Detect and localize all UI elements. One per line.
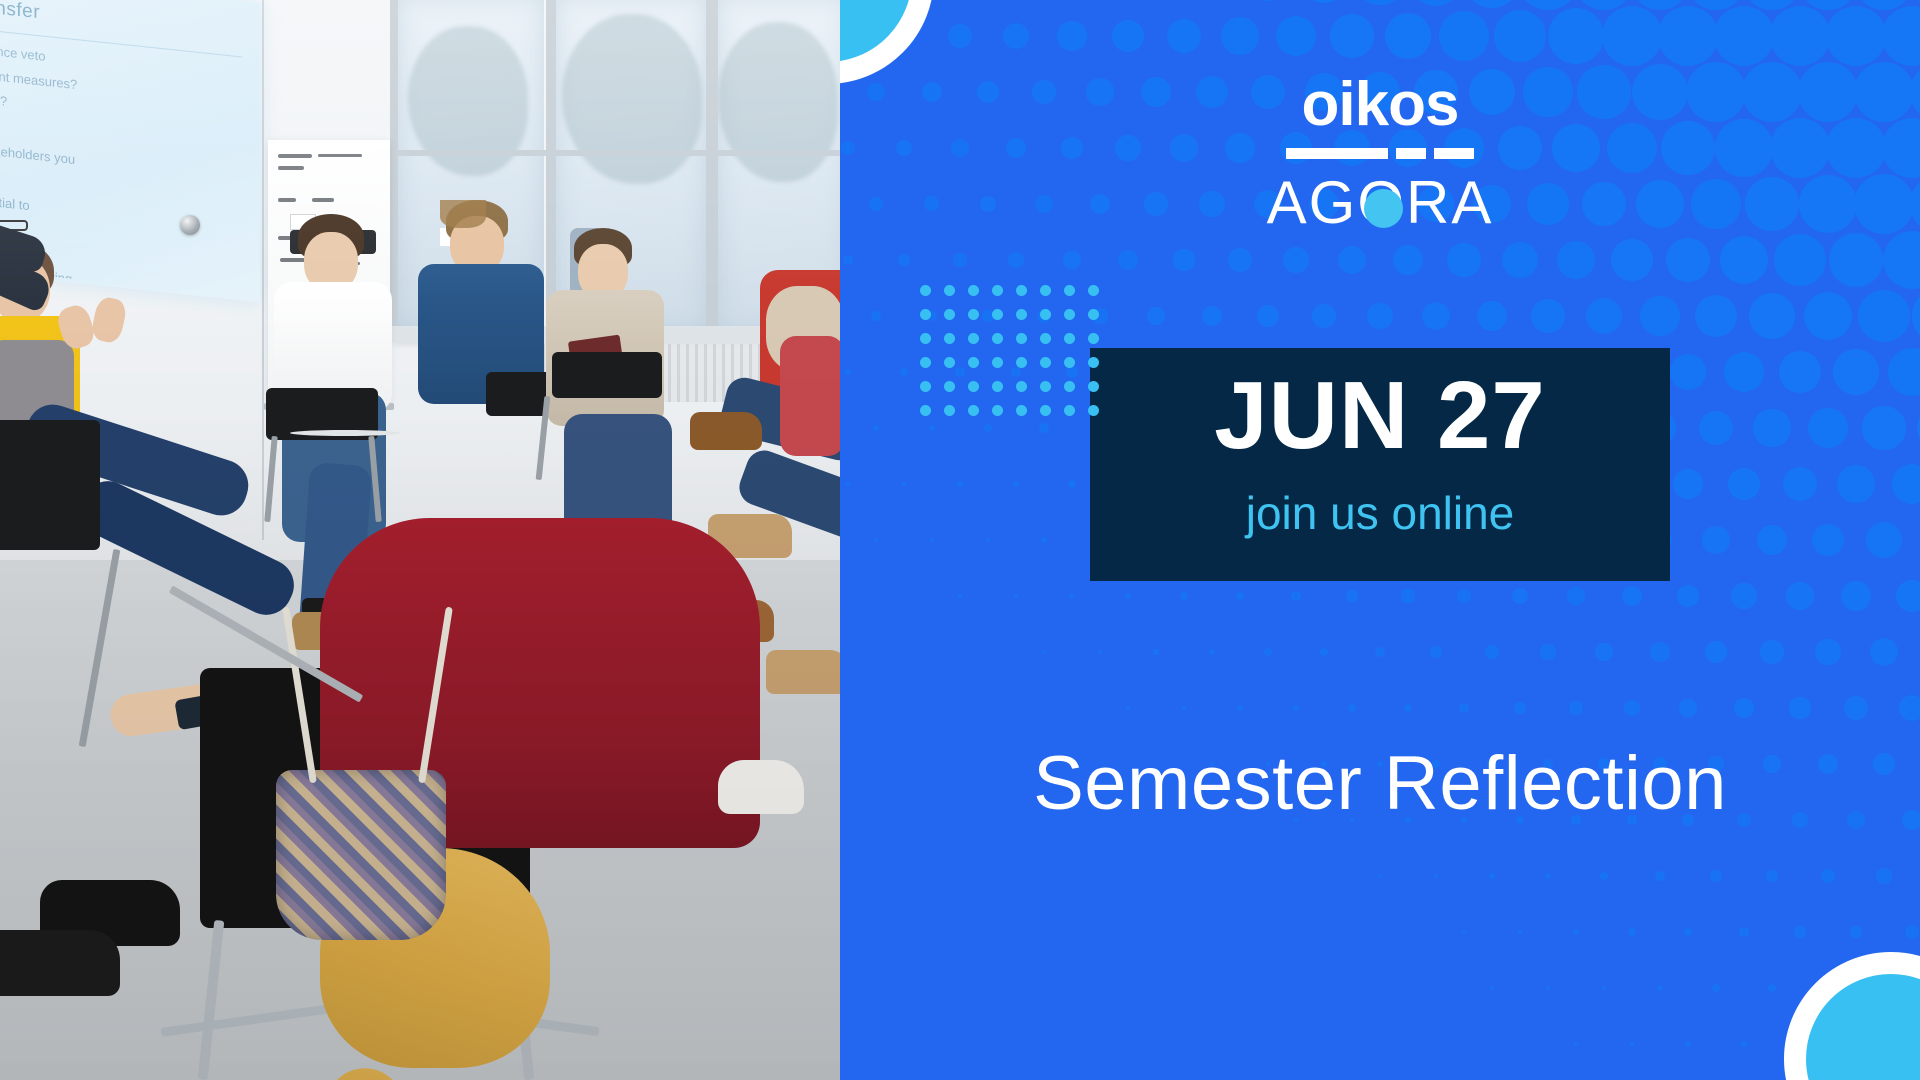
grid-dot	[920, 405, 931, 416]
halftone-dot	[1291, 591, 1301, 601]
halftone-dot	[1404, 704, 1413, 713]
halftone-dot	[898, 254, 910, 266]
grid-dot	[920, 285, 931, 296]
halftone-dot	[1173, 249, 1194, 270]
halftone-dot	[1724, 352, 1764, 392]
grid-dot	[920, 357, 931, 368]
halftone-dot	[1573, 929, 1579, 935]
grid-dot	[1016, 309, 1027, 320]
grid-dot	[1040, 357, 1051, 368]
halftone-dot	[1684, 928, 1692, 936]
halftone-dot	[1531, 299, 1565, 333]
halftone-dot	[1180, 592, 1187, 599]
halftone-dot	[1003, 23, 1030, 50]
grid-dot	[920, 309, 931, 320]
halftone-dot	[845, 369, 852, 376]
halftone-dot	[902, 482, 907, 487]
halftone-dot	[1430, 646, 1442, 658]
grid-dot	[920, 381, 931, 392]
grid-dot	[968, 381, 979, 392]
halftone-dot	[1862, 406, 1905, 449]
halftone-dot	[984, 424, 992, 432]
halftone-dot	[1410, 0, 1462, 6]
halftone-dot	[1569, 701, 1583, 715]
halftone-dot	[1008, 252, 1023, 267]
halftone-dot	[1338, 246, 1366, 274]
halftone-dot	[1882, 6, 1920, 66]
halftone-dot	[1753, 409, 1790, 446]
grid-dot	[1040, 405, 1051, 416]
grid-dot	[944, 285, 955, 296]
halftone-dot	[1815, 639, 1841, 665]
event-date: JUN 27	[1090, 368, 1670, 464]
halftone-dot	[1899, 695, 1920, 721]
halftone-dot	[1783, 467, 1818, 502]
halftone-dot	[1247, 0, 1290, 1]
halftone-dot	[929, 425, 936, 432]
halftone-dot	[1014, 594, 1018, 598]
grid-dot	[1040, 333, 1051, 344]
grid-dot	[992, 285, 1003, 296]
halftone-dot	[1112, 20, 1144, 52]
halftone-dot	[1655, 871, 1665, 881]
halftone-dot	[1640, 296, 1679, 335]
grid-dot	[1088, 357, 1099, 368]
halftone-dot	[1673, 469, 1702, 498]
halftone-dot	[1118, 250, 1137, 269]
promo-panel: oikos AGORA JUN 27 join us online Semest…	[840, 0, 1920, 1080]
halftone-dot	[1264, 648, 1271, 655]
halftone-dot	[1602, 986, 1607, 991]
halftone-dot	[1557, 241, 1596, 280]
halftone-dot	[1351, 931, 1353, 933]
grid-dot	[992, 333, 1003, 344]
halftone-dot	[1829, 233, 1884, 288]
halftone-dot	[1401, 589, 1414, 602]
grid-dot	[944, 381, 955, 392]
grid-dot	[1064, 333, 1075, 344]
halftone-dot	[874, 538, 877, 541]
halftone-dot	[1808, 408, 1848, 448]
halftone-dot	[1125, 593, 1131, 599]
halftone-dot	[1042, 650, 1045, 653]
halftone-dot	[1602, 6, 1662, 66]
halftone-dot	[1518, 930, 1523, 935]
halftone-dot	[1679, 699, 1696, 716]
halftone-dot	[1912, 288, 1920, 343]
halftone-dot	[1574, 1042, 1577, 1045]
halftone-dot	[1301, 0, 1347, 3]
halftone-dot	[1739, 927, 1749, 937]
halftone-dot	[1850, 926, 1863, 939]
halftone-dot	[1494, 10, 1547, 63]
logo-oikos-text: oikos	[840, 74, 1920, 136]
event-subtitle: join us online	[1090, 488, 1670, 539]
halftone-dot	[1658, 6, 1718, 66]
halftone-dot	[1323, 875, 1326, 878]
halftone-dot	[1540, 644, 1555, 659]
halftone-dot	[1611, 239, 1653, 281]
halftone-dot	[1685, 1041, 1690, 1046]
grid-dot	[1016, 405, 1027, 416]
halftone-dot	[1837, 465, 1875, 503]
halftone-dot	[1628, 928, 1635, 935]
halftone-dot	[1147, 307, 1164, 324]
halftone-dot	[1699, 411, 1733, 445]
halftone-dot	[871, 311, 880, 320]
halftone-dot	[1063, 251, 1080, 268]
halftone-dot	[1228, 248, 1251, 271]
halftone-dot	[1892, 464, 1920, 504]
halftone-dot	[1457, 589, 1472, 604]
halftone-dot	[1167, 19, 1201, 53]
grid-dot	[968, 357, 979, 368]
halftone-dot	[1841, 581, 1871, 611]
halftone-dot	[1378, 874, 1382, 878]
halftone-dot	[1447, 243, 1480, 276]
halftone-dot	[1276, 16, 1316, 56]
grid-dot	[992, 381, 1003, 392]
halftone-dot	[1905, 925, 1920, 940]
halftone-dot	[1741, 1041, 1747, 1047]
halftone-dot	[1039, 423, 1048, 432]
halftone-dot	[1760, 640, 1783, 663]
halftone-dot	[1896, 580, 1920, 613]
photo-colour-grade	[0, 0, 840, 1080]
halftone-dot	[1312, 304, 1336, 328]
halftone-dot	[1209, 649, 1215, 655]
halftone-dot	[1489, 873, 1495, 879]
halftone-dot	[1459, 703, 1469, 713]
halftone-dot	[1257, 305, 1278, 326]
logo-dashes	[1286, 148, 1474, 159]
halftone-dot	[1595, 643, 1612, 660]
halftone-dot	[948, 24, 972, 48]
logo-agora-o-dot-icon	[1364, 189, 1403, 228]
grid-dot	[1016, 357, 1027, 368]
event-date-card: JUN 27 join us online	[1090, 348, 1670, 581]
halftone-dot	[1435, 987, 1437, 989]
halftone-dot	[1677, 585, 1700, 608]
halftone-dot	[1057, 21, 1086, 50]
halftone-dot	[1071, 707, 1074, 710]
halftone-dot	[1041, 537, 1047, 543]
halftone-dot	[1548, 8, 1604, 64]
grid-dot	[1040, 285, 1051, 296]
halftone-dot	[1153, 649, 1158, 654]
grid-dot	[968, 285, 979, 296]
halftone-dot	[1462, 930, 1466, 934]
grid-dot	[1088, 405, 1099, 416]
halftone-dot	[1514, 702, 1526, 714]
halftone-dot	[1236, 592, 1245, 601]
halftone-dot	[1434, 874, 1439, 879]
grid-dot	[1064, 309, 1075, 320]
halftone-dot	[1485, 645, 1498, 658]
halftone-dot	[1666, 238, 1711, 283]
halftone-dot	[1794, 926, 1805, 937]
halftone-dot	[1283, 247, 1309, 273]
halftone-dot	[1098, 650, 1102, 654]
halftone-dot	[1749, 293, 1794, 338]
grid-dot	[968, 405, 979, 416]
halftone-dot	[1866, 522, 1901, 557]
halftone-dot	[1779, 351, 1822, 394]
halftone-dot	[1393, 245, 1424, 276]
halftone-dot	[1870, 638, 1898, 666]
halftone-dot	[1844, 696, 1868, 720]
halftone-dot	[1622, 586, 1643, 607]
grid-dot	[944, 309, 955, 320]
halftone-dot	[1757, 525, 1787, 555]
halftone-dot	[1293, 705, 1299, 711]
grid-dot	[992, 309, 1003, 320]
halftone-dot	[1439, 11, 1488, 60]
halftone-dot	[1770, 6, 1830, 66]
halftone-dot	[953, 253, 966, 266]
halftone-dot	[1013, 481, 1020, 488]
halftone-dot	[1464, 0, 1520, 8]
halftone-dot	[1712, 984, 1719, 991]
halftone-dot	[1367, 303, 1393, 329]
halftone-dot	[1786, 582, 1814, 610]
halftone-dot	[873, 425, 879, 431]
halftone-dot	[1804, 292, 1852, 340]
halftone-dot	[1774, 234, 1825, 285]
halftone-dot	[1833, 349, 1879, 395]
grid-dot	[992, 357, 1003, 368]
halftone-dot	[1348, 704, 1356, 712]
promo-banner: Transfer convince veto nement measures? …	[0, 0, 1920, 1080]
halftone-dot	[1695, 295, 1737, 337]
halftone-dot	[1821, 869, 1835, 883]
halftone-dot	[1546, 986, 1550, 990]
halftone-dot	[1407, 931, 1410, 934]
grid-dot	[968, 333, 979, 344]
grid-dot	[968, 309, 979, 320]
halftone-dot	[1422, 302, 1450, 330]
event-title: Semester Reflection	[840, 740, 1920, 827]
halftone-dot	[1069, 593, 1074, 598]
halftone-dot	[1385, 13, 1431, 59]
halftone-dot	[1477, 301, 1508, 332]
halftone-dot	[1702, 526, 1729, 553]
grid-dot	[1064, 285, 1075, 296]
halftone-dot	[1789, 697, 1810, 718]
halftone-dot	[900, 368, 908, 376]
halftone-dot	[930, 538, 934, 542]
halftone-dot	[903, 595, 905, 597]
halftone-dot	[1720, 236, 1768, 284]
halftone-dot	[1624, 700, 1639, 715]
halftone-dot	[1670, 354, 1707, 391]
halftone-dot	[1657, 985, 1663, 991]
halftone-dot	[1768, 984, 1777, 993]
halftone-dot	[1883, 231, 1920, 289]
grid-dot	[944, 357, 955, 368]
grid-dot	[944, 405, 955, 416]
halftone-dot	[1710, 870, 1721, 881]
halftone-dot	[1650, 642, 1669, 661]
halftone-dot	[1734, 698, 1753, 717]
halftone-dot	[1221, 17, 1258, 54]
halftone-dot	[846, 482, 850, 486]
halftone-dot	[1126, 706, 1129, 709]
grid-dot	[920, 333, 931, 344]
grid-dot	[1064, 405, 1075, 416]
grid-dot	[1088, 285, 1099, 296]
grid-dot	[1040, 381, 1051, 392]
grid-dot	[1016, 285, 1027, 296]
halftone-dot	[1320, 648, 1329, 657]
halftone-dot	[1567, 587, 1586, 606]
grid-dot	[1040, 309, 1051, 320]
halftone-dot	[1519, 1043, 1521, 1045]
halftone-dot	[1705, 641, 1726, 662]
halftone-dot	[1355, 0, 1404, 5]
halftone-dot	[1502, 242, 1538, 278]
halftone-dot	[1630, 1042, 1634, 1046]
halftone-dot	[1182, 706, 1186, 710]
halftone-dot	[843, 255, 853, 265]
halftone-dot	[1876, 868, 1892, 884]
halftone-dot	[1237, 705, 1242, 710]
halftone-dot	[1812, 524, 1844, 556]
dot-grid-decoration	[920, 285, 1112, 413]
grid-dot	[1088, 381, 1099, 392]
grid-dot	[1016, 333, 1027, 344]
halftone-dot	[1731, 583, 1756, 608]
halftone-dot	[957, 481, 963, 487]
halftone-dot	[1826, 6, 1886, 66]
halftone-dot	[987, 651, 989, 653]
brand-logo: oikos AGORA	[840, 74, 1920, 233]
halftone-dot	[1490, 986, 1493, 989]
halftone-dot	[1330, 14, 1373, 57]
grid-dot	[992, 405, 1003, 416]
grid-dot	[1016, 381, 1027, 392]
halftone-dot	[1586, 298, 1622, 334]
halftone-dot	[1346, 590, 1358, 602]
grid-dot	[944, 333, 955, 344]
halftone-dot	[1600, 872, 1608, 880]
logo-agora-wrap: AGORA	[1267, 173, 1494, 233]
halftone-dot	[1888, 348, 1920, 397]
grid-dot	[1088, 333, 1099, 344]
grid-dot	[1088, 309, 1099, 320]
halftone-dot	[1714, 6, 1774, 66]
halftone-dot	[1512, 588, 1529, 605]
halftone-dot	[1728, 468, 1760, 500]
halftone-dot	[986, 538, 991, 543]
halftone-dot	[1068, 480, 1076, 488]
halftone-dot	[1202, 306, 1221, 325]
grid-dot	[1064, 357, 1075, 368]
event-photo: Transfer convince veto nement measures? …	[0, 0, 840, 1080]
halftone-dot	[1375, 647, 1385, 657]
halftone-dot	[1858, 290, 1910, 342]
halftone-dot	[958, 594, 961, 597]
halftone-dot	[1766, 870, 1779, 883]
grid-dot	[1064, 381, 1075, 392]
halftone-dot	[1545, 873, 1552, 880]
